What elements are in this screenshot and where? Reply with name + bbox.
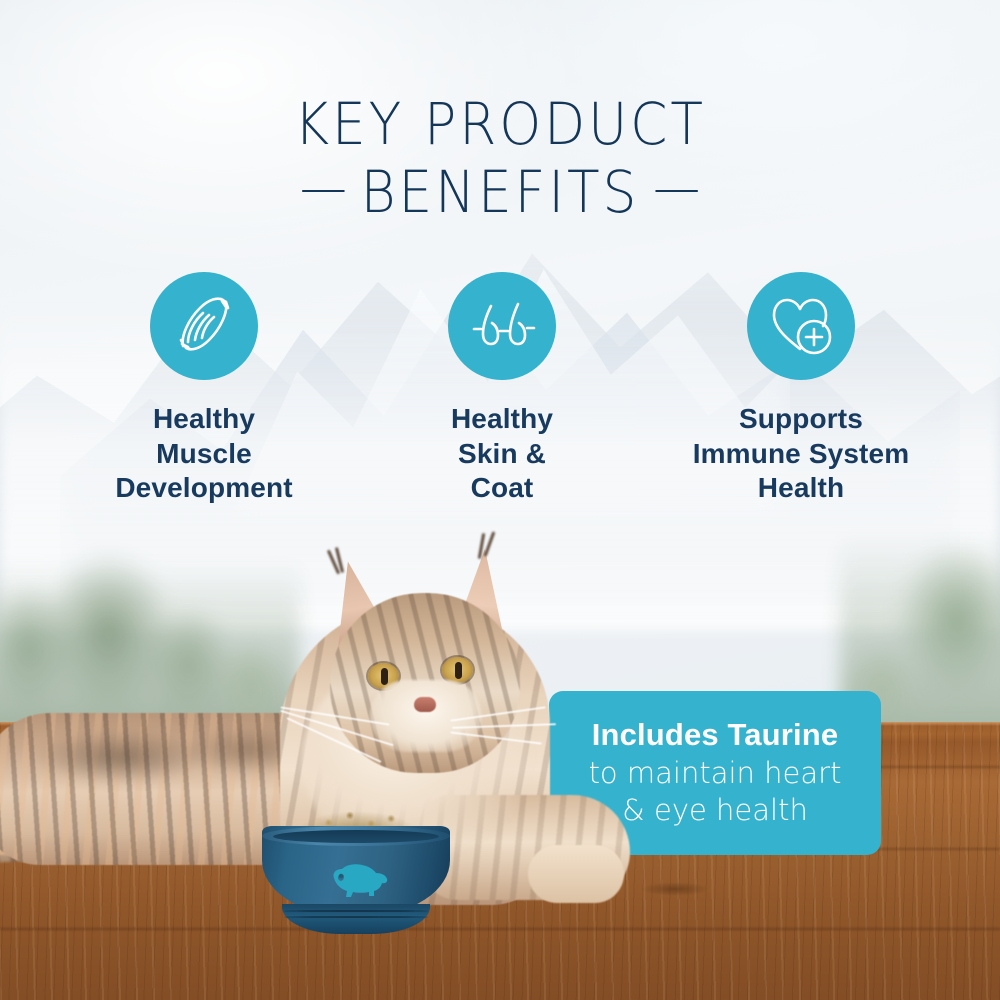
benefit-label-line: Health	[651, 471, 951, 506]
pet-food-bowl	[262, 826, 450, 942]
buffalo-logo-icon	[324, 860, 390, 898]
hair-follicle-icon	[466, 288, 538, 365]
benefit-label-immune: Supports Immune System Health	[651, 402, 951, 506]
product-benefits-graphic: KEY PRODUCT BENEFITS	[0, 0, 1000, 1000]
benefit-icon-circle	[150, 272, 258, 380]
title-dash-right	[656, 190, 698, 192]
benefit-label-line: Healthy	[352, 402, 652, 437]
bowl-base	[282, 904, 430, 934]
benefits-row: Healthy Muscle Development	[0, 272, 1000, 522]
cat-nose	[414, 697, 436, 712]
benefit-item-immune: Supports Immune System Health	[651, 272, 951, 506]
benefit-label-line: Healthy	[54, 402, 354, 437]
page-title-line-1: KEY PRODUCT	[294, 90, 706, 158]
bowl-interior	[273, 830, 439, 843]
title-dash-left	[302, 190, 344, 192]
heart-plus-icon	[764, 287, 838, 366]
benefit-label-line: Coat	[352, 471, 652, 506]
benefit-icon-circle	[448, 272, 556, 380]
benefit-label-line: Skin &	[352, 437, 652, 472]
benefit-label-line: Supports	[651, 402, 951, 437]
benefit-item-muscle: Healthy Muscle Development	[54, 272, 354, 506]
benefit-label-line: Immune System	[651, 437, 951, 472]
benefit-label-muscle: Healthy Muscle Development	[54, 402, 354, 506]
benefit-icon-circle	[747, 272, 855, 380]
page-title-line-2: BENEFITS	[361, 158, 640, 226]
benefit-label-line: Development	[54, 471, 354, 506]
benefit-item-skin-coat: Healthy Skin & Coat	[352, 272, 652, 506]
page-title: KEY PRODUCT BENEFITS	[40, 90, 960, 227]
cat-front-paw	[528, 845, 624, 903]
muscle-fiber-icon	[168, 288, 240, 365]
benefit-label-line: Muscle	[54, 437, 354, 472]
benefit-label-skin-coat: Healthy Skin & Coat	[352, 402, 652, 506]
